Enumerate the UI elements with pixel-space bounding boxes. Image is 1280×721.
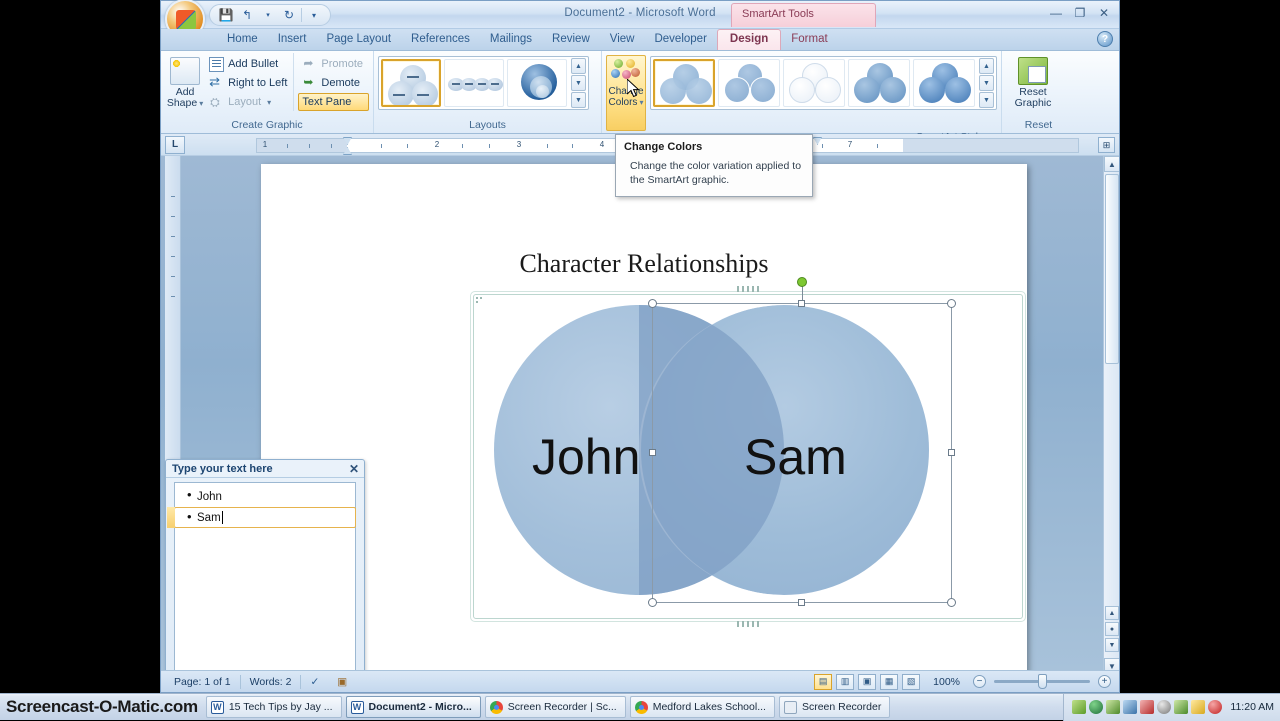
- handle-middle-right[interactable]: [948, 449, 955, 456]
- network-tray-icon[interactable]: [1140, 700, 1154, 714]
- ruler-number-7: 7: [848, 140, 852, 149]
- venn-label-john: John: [532, 428, 640, 486]
- full-screen-reading-view-button[interactable]: ▥: [836, 674, 854, 690]
- zoom-slider[interactable]: [994, 680, 1090, 683]
- taskbar-label-tech-tips: 15 Tech Tips by Jay ...: [229, 701, 333, 713]
- handle-bottom-left[interactable]: [648, 598, 657, 607]
- taskbar-label-medford-lakes: Medford Lakes School...: [653, 701, 766, 713]
- right-indent-marker[interactable]: [813, 137, 822, 145]
- handle-top-left[interactable]: [648, 299, 657, 308]
- add-shape-icon: [170, 57, 200, 85]
- demote-label: Demote: [321, 77, 360, 89]
- styles-more-button[interactable]: ▼: [979, 92, 994, 108]
- ribbon-group-reset: Reset Graphic Reset: [1001, 51, 1075, 133]
- handle-top-center[interactable]: [798, 300, 805, 307]
- system-tray: 11:20 AM: [1063, 694, 1280, 721]
- text-pane-label: Text Pane: [302, 96, 351, 108]
- page-status[interactable]: Page: 1 of 1: [165, 676, 240, 688]
- language-icon[interactable]: ▣: [328, 676, 356, 688]
- select-browse-object-button[interactable]: ●: [1105, 622, 1119, 636]
- group-label-layouts: Layouts: [378, 119, 597, 133]
- draft-view-button[interactable]: ▧: [902, 674, 920, 690]
- ribbon-group-layouts: ▲ ▼ ▼ Layouts: [373, 51, 601, 133]
- selected-shape-handles[interactable]: [652, 303, 952, 603]
- style-thumb-simple-fill[interactable]: [653, 59, 715, 107]
- layouts-more-button[interactable]: ▼: [571, 92, 586, 108]
- minimize-button[interactable]: —: [1045, 4, 1067, 21]
- handle-middle-left[interactable]: [649, 449, 656, 456]
- styles-scroll-down-button[interactable]: ▼: [979, 75, 994, 91]
- tab-page-layout[interactable]: Page Layout: [316, 29, 401, 50]
- create-graphic-column-2: Promote Demote Text Pane: [293, 53, 369, 111]
- layout-thumb-stacked-venn[interactable]: [507, 59, 567, 107]
- tab-stop-selector[interactable]: L: [165, 136, 185, 154]
- ribbon-group-smartart-styles: Change Colors▾: [601, 51, 1001, 133]
- shield-tray-icon[interactable]: [1191, 700, 1205, 714]
- print-layout-view-button[interactable]: ▤: [814, 674, 832, 690]
- monitor-tray-icon[interactable]: [1106, 700, 1120, 714]
- tab-references[interactable]: References: [401, 29, 480, 50]
- right-to-left-button[interactable]: Right to Left: [205, 74, 293, 92]
- smartart-top-handle[interactable]: [737, 286, 759, 292]
- zoom-slider-thumb[interactable]: [1038, 674, 1047, 689]
- zoom-level[interactable]: 100%: [924, 676, 969, 688]
- tab-home[interactable]: Home: [217, 29, 268, 50]
- promote-icon: [302, 57, 317, 72]
- word-count-status[interactable]: Words: 2: [241, 676, 301, 688]
- handle-bottom-center[interactable]: [798, 599, 805, 606]
- previous-object-button[interactable]: ▲: [1105, 606, 1119, 620]
- smartart-styles-gallery[interactable]: ▲ ▼ ▼: [650, 56, 997, 110]
- layout-button[interactable]: Layout ▾: [205, 93, 293, 111]
- demote-icon: [302, 76, 317, 91]
- screencast-watermark: Screencast-O-Matic.com: [0, 694, 204, 721]
- ruler-number-2: 2: [435, 140, 439, 149]
- clock-tray-icon[interactable]: [1157, 700, 1171, 714]
- document-page[interactable]: Character Relationships John Sam: [261, 164, 1027, 674]
- restore-button[interactable]: ❐: [1069, 4, 1091, 21]
- close-icon[interactable]: ✕: [349, 462, 359, 476]
- tab-insert[interactable]: Insert: [268, 29, 317, 50]
- taskbar-label-document2: Document2 - Micro...: [369, 701, 472, 713]
- group-label-create-graphic: Create Graphic: [165, 119, 369, 133]
- tab-mailings[interactable]: Mailings: [480, 29, 542, 50]
- taskbar-label-screen-recorder-page: Screen Recorder | Sc...: [508, 701, 617, 713]
- scrollbar-thumb[interactable]: [1105, 174, 1119, 364]
- change-colors-tooltip: Change Colors Change the color variation…: [615, 134, 813, 197]
- bullet-list-icon: [209, 57, 224, 72]
- ruler-number-4: 4: [600, 140, 604, 149]
- smartart-corner-handle[interactable]: [476, 297, 483, 304]
- help-icon[interactable]: ?: [1097, 31, 1113, 47]
- ruler-number-1: 1: [263, 140, 267, 149]
- view-ruler-button[interactable]: ⊞: [1098, 137, 1115, 153]
- promote-label: Promote: [321, 58, 363, 70]
- spell-check-icon[interactable]: ✓: [301, 676, 328, 688]
- promote-button[interactable]: Promote: [298, 55, 369, 73]
- style-thumb-moderate-effect[interactable]: [848, 59, 910, 107]
- text-pane-header: Type your text here ✕: [166, 460, 364, 478]
- chrome-icon: [635, 701, 648, 714]
- close-button[interactable]: ✕: [1093, 4, 1115, 21]
- smartart-bottom-handle[interactable]: [737, 621, 759, 627]
- ribbon-tab-strip: Home Insert Page Layout References Maili…: [161, 29, 1119, 51]
- add-shape-label-2: Shape▾: [167, 98, 203, 109]
- ribbon-group-create-graphic: Add Shape▾ Add Bullet Right to Left Layo…: [161, 51, 373, 133]
- document-vertical-scrollbar[interactable]: ▲ ▲ ● ▼ ▼: [1103, 156, 1119, 674]
- tab-developer[interactable]: Developer: [644, 29, 716, 50]
- battery-tray-icon[interactable]: [1174, 700, 1188, 714]
- windows-taskbar: Screencast-O-Matic.com W 15 Tech Tips by…: [0, 693, 1280, 720]
- add-shape-button[interactable]: Add Shape▾: [165, 53, 205, 109]
- next-object-button[interactable]: ▼: [1105, 638, 1119, 652]
- layout-thumb-linear-venn[interactable]: [444, 59, 504, 107]
- smartart-styles-gallery-scroll[interactable]: ▲ ▼ ▼: [979, 58, 994, 108]
- taskbar-label-screen-recorder-app: Screen Recorder: [802, 701, 881, 713]
- smartart-tools-label: SmartArt Tools: [731, 3, 876, 27]
- text-pane-button[interactable]: Text Pane: [298, 93, 369, 111]
- window-controls: — ❐ ✕: [1045, 4, 1115, 21]
- taskbar-button-screen-recorder-page[interactable]: Screen Recorder | Sc...: [485, 696, 626, 718]
- reset-graphic-button[interactable]: Reset Graphic: [1006, 53, 1060, 109]
- web-layout-view-button[interactable]: ▣: [858, 674, 876, 690]
- ruler-number-3: 3: [517, 140, 521, 149]
- speaker-tray-icon[interactable]: [1123, 700, 1137, 714]
- page-title: Character Relationships: [261, 249, 1027, 279]
- text-pane-item-john[interactable]: John: [175, 486, 355, 507]
- window-title: Document2 - Microsoft Word: [161, 7, 1119, 19]
- demote-button[interactable]: Demote: [298, 74, 369, 92]
- layouts-gallery[interactable]: ▲ ▼ ▼: [378, 56, 589, 110]
- layout-label: Layout: [228, 96, 261, 108]
- taskbar-button-document2[interactable]: W Document2 - Micro...: [346, 696, 481, 718]
- add-bullet-button[interactable]: Add Bullet: [205, 55, 293, 73]
- word-application-window: 💾 ↰ ▾ ↻ ▾ Document2 - Microsoft Word Sma…: [160, 0, 1120, 693]
- word-icon: W: [351, 701, 364, 714]
- style-thumb-white-outline[interactable]: [718, 59, 780, 107]
- mouse-cursor-icon: [627, 79, 641, 99]
- green-tray-icon[interactable]: [1072, 700, 1086, 714]
- text-pane-item-sam[interactable]: Sam: [174, 507, 356, 528]
- layouts-scroll-up-button[interactable]: ▲: [571, 58, 586, 74]
- chrome-icon: [490, 701, 503, 714]
- text-pane-item-sam-label: Sam: [197, 512, 221, 524]
- right-to-left-icon: [209, 76, 224, 91]
- tab-view[interactable]: View: [600, 29, 645, 50]
- status-bar: Page: 1 of 1 Words: 2 ✓ ▣ ▤ ▥ ▣ ▦ ▧ 100%…: [161, 670, 1119, 692]
- text-pane-title: Type your text here: [172, 463, 273, 475]
- text-pane-list[interactable]: John Sam: [174, 482, 356, 674]
- right-to-left-label: Right to Left: [228, 77, 287, 89]
- add-bullet-label: Add Bullet: [228, 58, 278, 70]
- document-canvas: Character Relationships John Sam: [161, 156, 1119, 674]
- outline-view-button[interactable]: ▦: [880, 674, 898, 690]
- taskbar-button-medford-lakes[interactable]: Medford Lakes School...: [630, 696, 775, 718]
- globe-tray-icon[interactable]: [1089, 700, 1103, 714]
- tab-review[interactable]: Review: [542, 29, 600, 50]
- zoom-in-button[interactable]: +: [1098, 675, 1111, 688]
- reset-graphic-label-2: Graphic: [1015, 98, 1052, 109]
- layout-thumb-basic-venn[interactable]: [381, 59, 441, 107]
- text-cursor: [222, 511, 223, 524]
- layout-icon: [209, 95, 224, 110]
- layouts-gallery-scroll[interactable]: ▲ ▼ ▼: [571, 58, 586, 108]
- recorder-icon: [784, 701, 797, 714]
- zoom-out-button[interactable]: −: [973, 675, 986, 688]
- group-label-reset: Reset: [1006, 119, 1071, 133]
- rotation-handle[interactable]: [797, 277, 807, 287]
- styles-scroll-up-button[interactable]: ▲: [979, 58, 994, 74]
- scroll-up-button[interactable]: ▲: [1104, 156, 1119, 172]
- tooltip-title: Change Colors: [624, 141, 804, 153]
- title-bar: 💾 ↰ ▾ ↻ ▾ Document2 - Microsoft Word Sma…: [161, 1, 1119, 29]
- tooltip-body: Change the color variation applied to th…: [624, 159, 804, 187]
- taskbar-clock[interactable]: 11:20 AM: [1225, 701, 1274, 713]
- smartart-graphic-frame[interactable]: John Sam: [473, 294, 1023, 619]
- tab-format[interactable]: Format: [781, 29, 837, 50]
- tab-design[interactable]: Design: [717, 29, 781, 50]
- handle-bottom-right[interactable]: [947, 598, 956, 607]
- status-bar-right: ▤ ▥ ▣ ▦ ▧ 100% − +: [814, 674, 1115, 690]
- handle-top-right[interactable]: [947, 299, 956, 308]
- taskbar-button-tech-tips[interactable]: W 15 Tech Tips by Jay ...: [206, 696, 342, 718]
- style-thumb-subtle-effect[interactable]: [783, 59, 845, 107]
- create-graphic-column-1: Add Bullet Right to Left Layout ▾: [205, 53, 293, 111]
- smartart-text-pane[interactable]: Type your text here ✕ John Sam Basic Ven…: [165, 459, 365, 674]
- taskbar-button-screen-recorder-app[interactable]: Screen Recorder: [779, 696, 890, 718]
- layouts-scroll-down-button[interactable]: ▼: [571, 75, 586, 91]
- reset-graphic-icon: [1018, 57, 1048, 85]
- alert-tray-icon[interactable]: [1208, 700, 1222, 714]
- word-icon: W: [211, 701, 224, 714]
- style-thumb-intense-effect[interactable]: [913, 59, 975, 107]
